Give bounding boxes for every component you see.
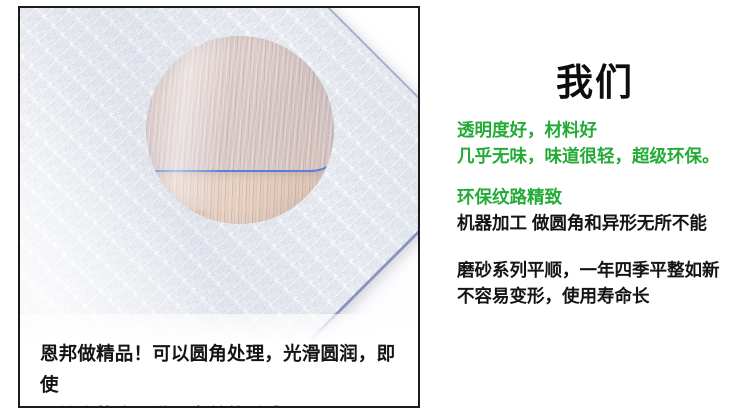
photo-caption-area: 恩邦做精品！可以圆角处理，光滑圆润，即使 一块小垫也要做到完美的手感。 — [20, 314, 418, 406]
features-panel: 我们 透明度好，材料好 几乎无味，味道很轻，超级环保。 环保纹路精致 机器加工 … — [440, 0, 750, 419]
feature-groups: 透明度好，材料好 几乎无味，味道很轻，超级环保。 环保纹路精致 机器加工 做圆角… — [457, 118, 746, 309]
magnifier-vignette — [146, 36, 334, 224]
feature-line: 环保纹路精致 — [457, 185, 746, 211]
feature-group-1: 透明度好，材料好 几乎无味，味道很轻，超级环保。 — [457, 118, 746, 169]
magnifier-circle — [146, 36, 334, 224]
panel-title: 我们 — [440, 52, 750, 106]
feature-line: 机器加工 做圆角和异形无所不能 — [457, 211, 746, 237]
feature-line: 磨砂系列平顺，一年四季平整如新 — [457, 258, 746, 284]
feature-line: 几乎无味，味道很轻，超级环保。 — [457, 144, 746, 170]
feature-line: 透明度好，材料好 — [457, 118, 746, 144]
product-photo-frame: 恩邦做精品！可以圆角处理，光滑圆润，即使 一块小垫也要做到完美的手感。 — [18, 6, 420, 408]
feature-line: 不容易变形，使用寿命长 — [457, 284, 746, 310]
poster-canvas: 恩邦做精品！可以圆角处理，光滑圆润，即使 一块小垫也要做到完美的手感。 我们 透… — [0, 0, 750, 419]
photo-caption-text: 恩邦做精品！可以圆角处理，光滑圆润，即使 一块小垫也要做到完美的手感。 — [40, 338, 412, 408]
feature-group-3: 磨砂系列平顺，一年四季平整如新 不容易变形，使用寿命长 — [457, 258, 746, 309]
feature-group-2: 环保纹路精致 机器加工 做圆角和异形无所不能 — [457, 185, 746, 236]
